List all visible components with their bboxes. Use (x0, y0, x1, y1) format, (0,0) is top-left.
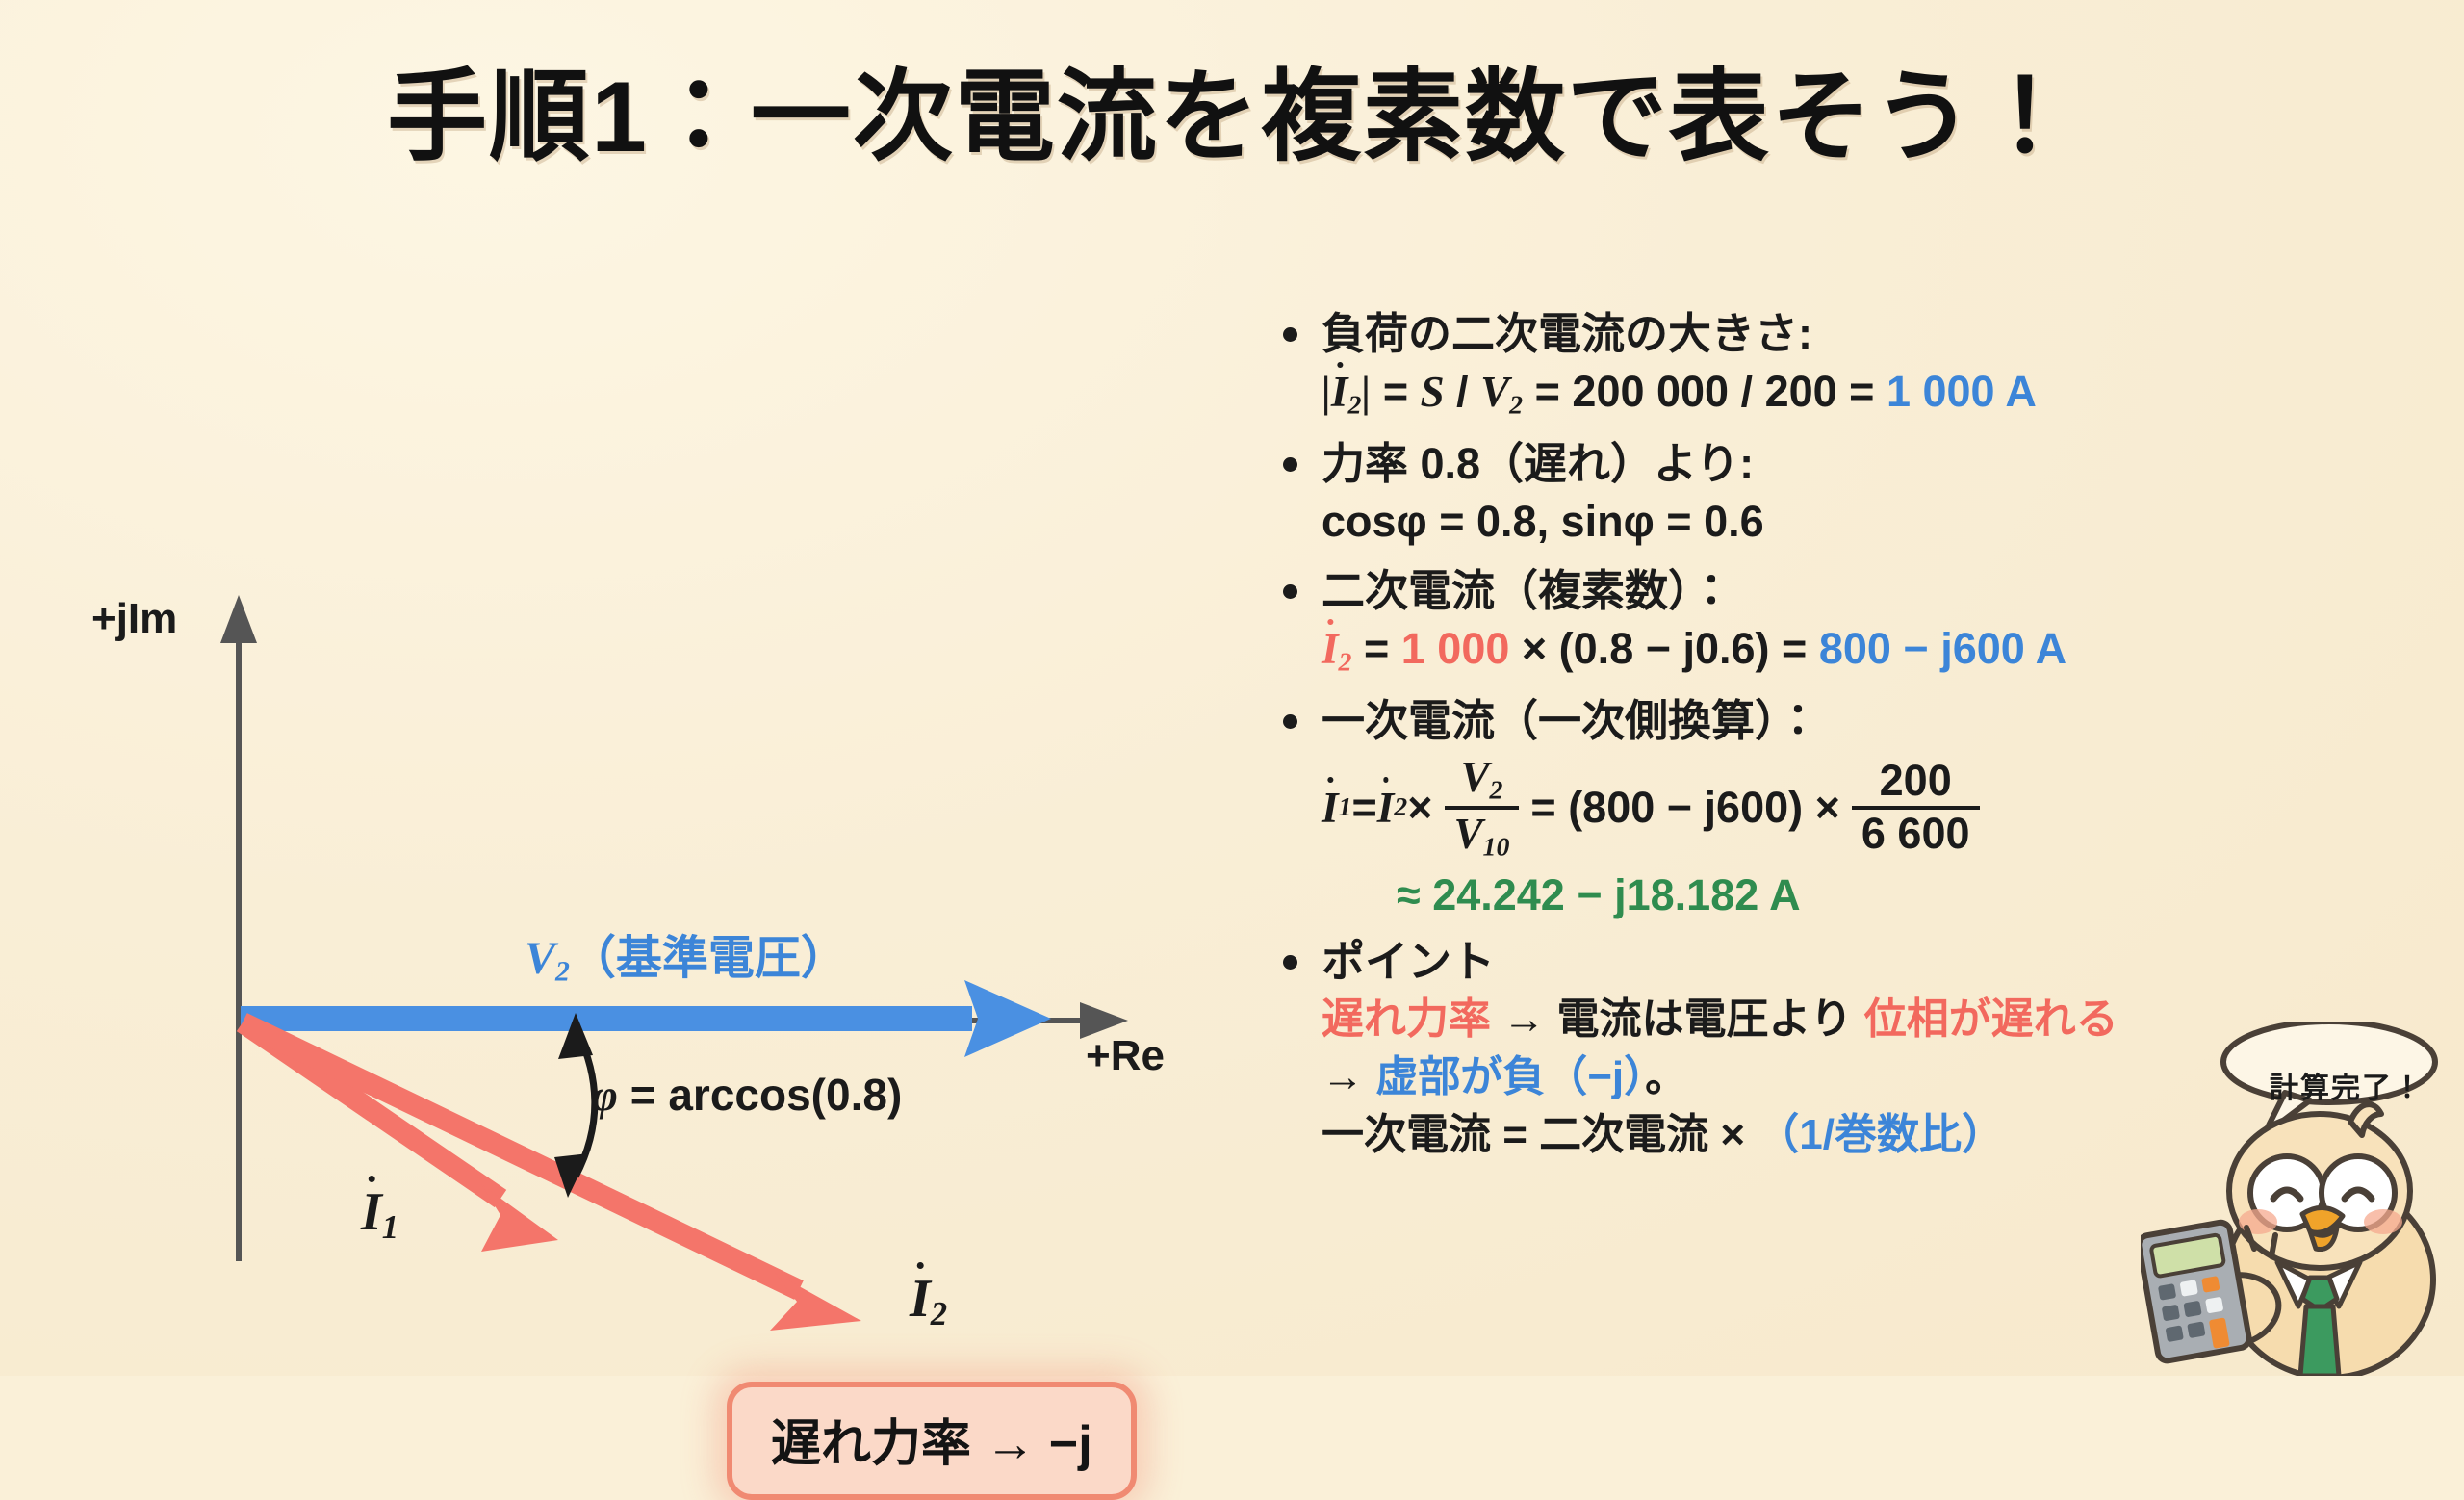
result-value: 1 000 A (1886, 367, 2037, 416)
phi-symbol: φ (592, 1071, 618, 1120)
callout-lagging-power-factor: 遅れ力率 → −j (727, 1382, 1137, 1500)
v2-subscript: 2 (555, 956, 570, 988)
result-value: 800 − j600 A (1819, 624, 2066, 673)
axis-label-real: +Re (1086, 1032, 1165, 1080)
angle-label-phi: φ = arccos(0.8) (592, 1069, 902, 1121)
phasor-diagram: +jIm +Re V2（基準電圧） φ = arccos(0.8) I1 I2 … (0, 289, 1242, 1367)
list-item: 一次電流（一次側換算）： I1 = I2 × V2 V10 = (800 − j… (1275, 693, 2445, 920)
v2-caption: （基準電圧） (570, 933, 847, 984)
bullet-formula: |I2| = S / V2 = 200 000 / 200 = 1 000 A (1322, 364, 2445, 424)
formula-tail: = 200 000 / 200 = (1535, 367, 1886, 416)
mascot-speech-text: 計算完了！ (2270, 1064, 2424, 1106)
page-title: 手順1：一次電流を複素数で表そう！ (0, 35, 2464, 180)
phi-expression: = arccos(0.8) (630, 1070, 903, 1120)
i2-symbol: I (910, 1269, 931, 1329)
phasor-label-v2: V2（基準電圧） (525, 919, 847, 989)
phasor-label-i2: I2 (910, 1266, 947, 1333)
bullet-heading: 二次電流（複素数）： (1322, 563, 2445, 619)
bullet-heading: ポイント (1322, 934, 2445, 990)
bullet-formula-fraction: I1 = I2 × V2 V10 = (800 − j600) × 200 6 … (1322, 755, 2445, 862)
list-item: 力率 0.8（遅れ）より: cosφ = 0.8, sinφ = 0.6 (1275, 436, 2445, 550)
i1-symbol: I (361, 1182, 382, 1242)
fraction-200-over-6600: 200 6 600 (1852, 759, 1980, 857)
bullet-formula: I2 = 1 000 × (0.8 − j0.6) = 800 − j600 A (1322, 621, 2445, 681)
phasor-label-i1: I1 (361, 1179, 398, 1247)
axis-label-imaginary: +jIm (91, 595, 177, 643)
list-item: 二次電流（複素数）： I2 = 1 000 × (0.8 − j0.6) = 8… (1275, 563, 2445, 680)
i1-subscript: 1 (382, 1208, 398, 1246)
bullet-formula: cosφ = 0.8, sinφ = 0.6 (1322, 494, 2445, 551)
bullet-heading: 力率 0.8（遅れ）より: (1322, 436, 2445, 492)
fraction-v2-over-v10: V2 V10 (1445, 755, 1520, 862)
bullet-heading: 一次電流（一次側換算）： (1322, 693, 2445, 749)
approx-result: ≈ 24.242 − j18.182 A (1322, 870, 2445, 920)
bullet-heading: 負荷の二次電流の大きさ: (1322, 306, 2445, 362)
i2-subscript: 2 (931, 1295, 947, 1332)
list-item: 負荷の二次電流の大きさ: |I2| = S / V2 = 200 000 / 2… (1275, 306, 2445, 423)
v2-symbol: V (525, 933, 555, 984)
